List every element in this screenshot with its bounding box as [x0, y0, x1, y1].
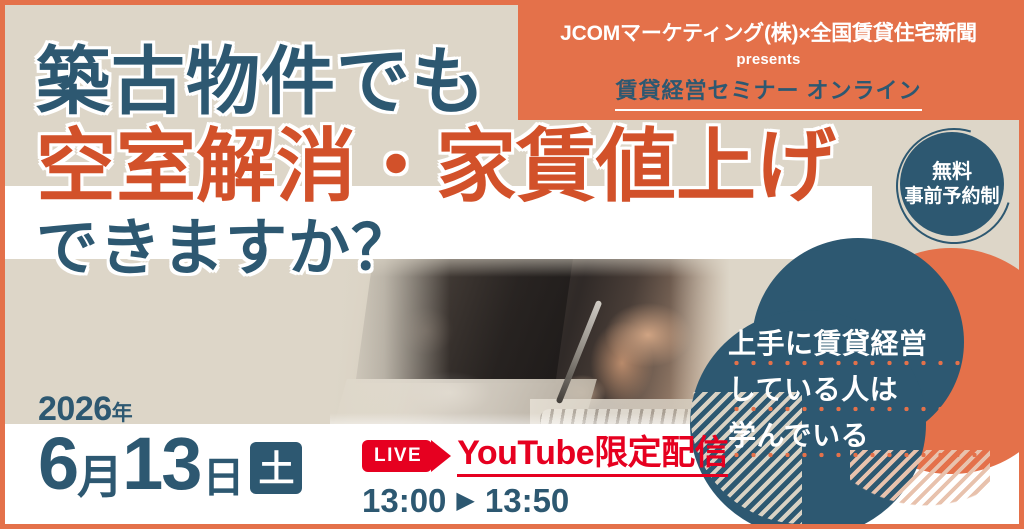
catch-copy: 上手に賃貸経営 している人は 学んでいる — [728, 330, 978, 458]
play-arrow-icon: ▶ — [456, 489, 474, 513]
start-time: 13:00 — [362, 482, 446, 520]
event-day-unit: 日 — [202, 459, 244, 498]
end-time: 13:50 — [485, 482, 569, 520]
broadcast-channel-row: LIVE YouTube限定配信 — [362, 436, 728, 477]
event-month-unit: 月 — [77, 456, 122, 498]
broadcast-time-row: 13:00 ▶ 13:50 — [362, 482, 569, 520]
video-camera-icon — [431, 440, 451, 472]
live-badge: LIVE — [362, 440, 432, 472]
event-date: 2026年 6 月 13 日 土 — [38, 392, 302, 498]
event-day-number: 13 — [122, 430, 200, 498]
headline-line-2: 空室解消・家賃値上げ — [36, 128, 836, 208]
presents-label: presents — [518, 51, 1019, 68]
headline-line-3: できますか？ — [36, 218, 836, 280]
organizer-line: JCOMマーケティング(株)×全国賃貸住宅新聞 — [518, 17, 1019, 47]
diagonal-stripe-decoration-right — [850, 450, 990, 510]
badge-line-2: 事前予約制 — [904, 185, 999, 209]
webinar-banner: 上手に賃貸経営 している人は 学んでいる JCOMマーケティング(株)×全国賃貸… — [0, 0, 1024, 529]
catch-copy-line-1: 上手に賃貸経営 — [728, 330, 978, 366]
seminar-title: 賃貸経営セミナー オンライン — [615, 73, 921, 111]
catch-copy-line-2: している人は — [728, 376, 978, 412]
event-weekday-badge: 土 — [250, 442, 302, 494]
event-month-number: 6 — [38, 430, 77, 498]
event-year: 2026年 — [38, 392, 302, 426]
header-orange-block: JCOMマーケティング(株)×全国賃貸住宅新聞 presents 賃貸経営セミナ… — [518, 5, 1019, 120]
badge-line-1: 無料 — [932, 160, 972, 185]
youtube-channel-label: YouTube限定配信 — [457, 436, 728, 477]
catch-copy-line-3: 学んでいる — [728, 422, 978, 458]
free-reservation-badge: 無料 事前予約制 — [896, 128, 1008, 240]
event-month-day: 6 月 13 日 土 — [38, 430, 302, 498]
badge-text: 無料 事前予約制 — [896, 128, 1008, 240]
